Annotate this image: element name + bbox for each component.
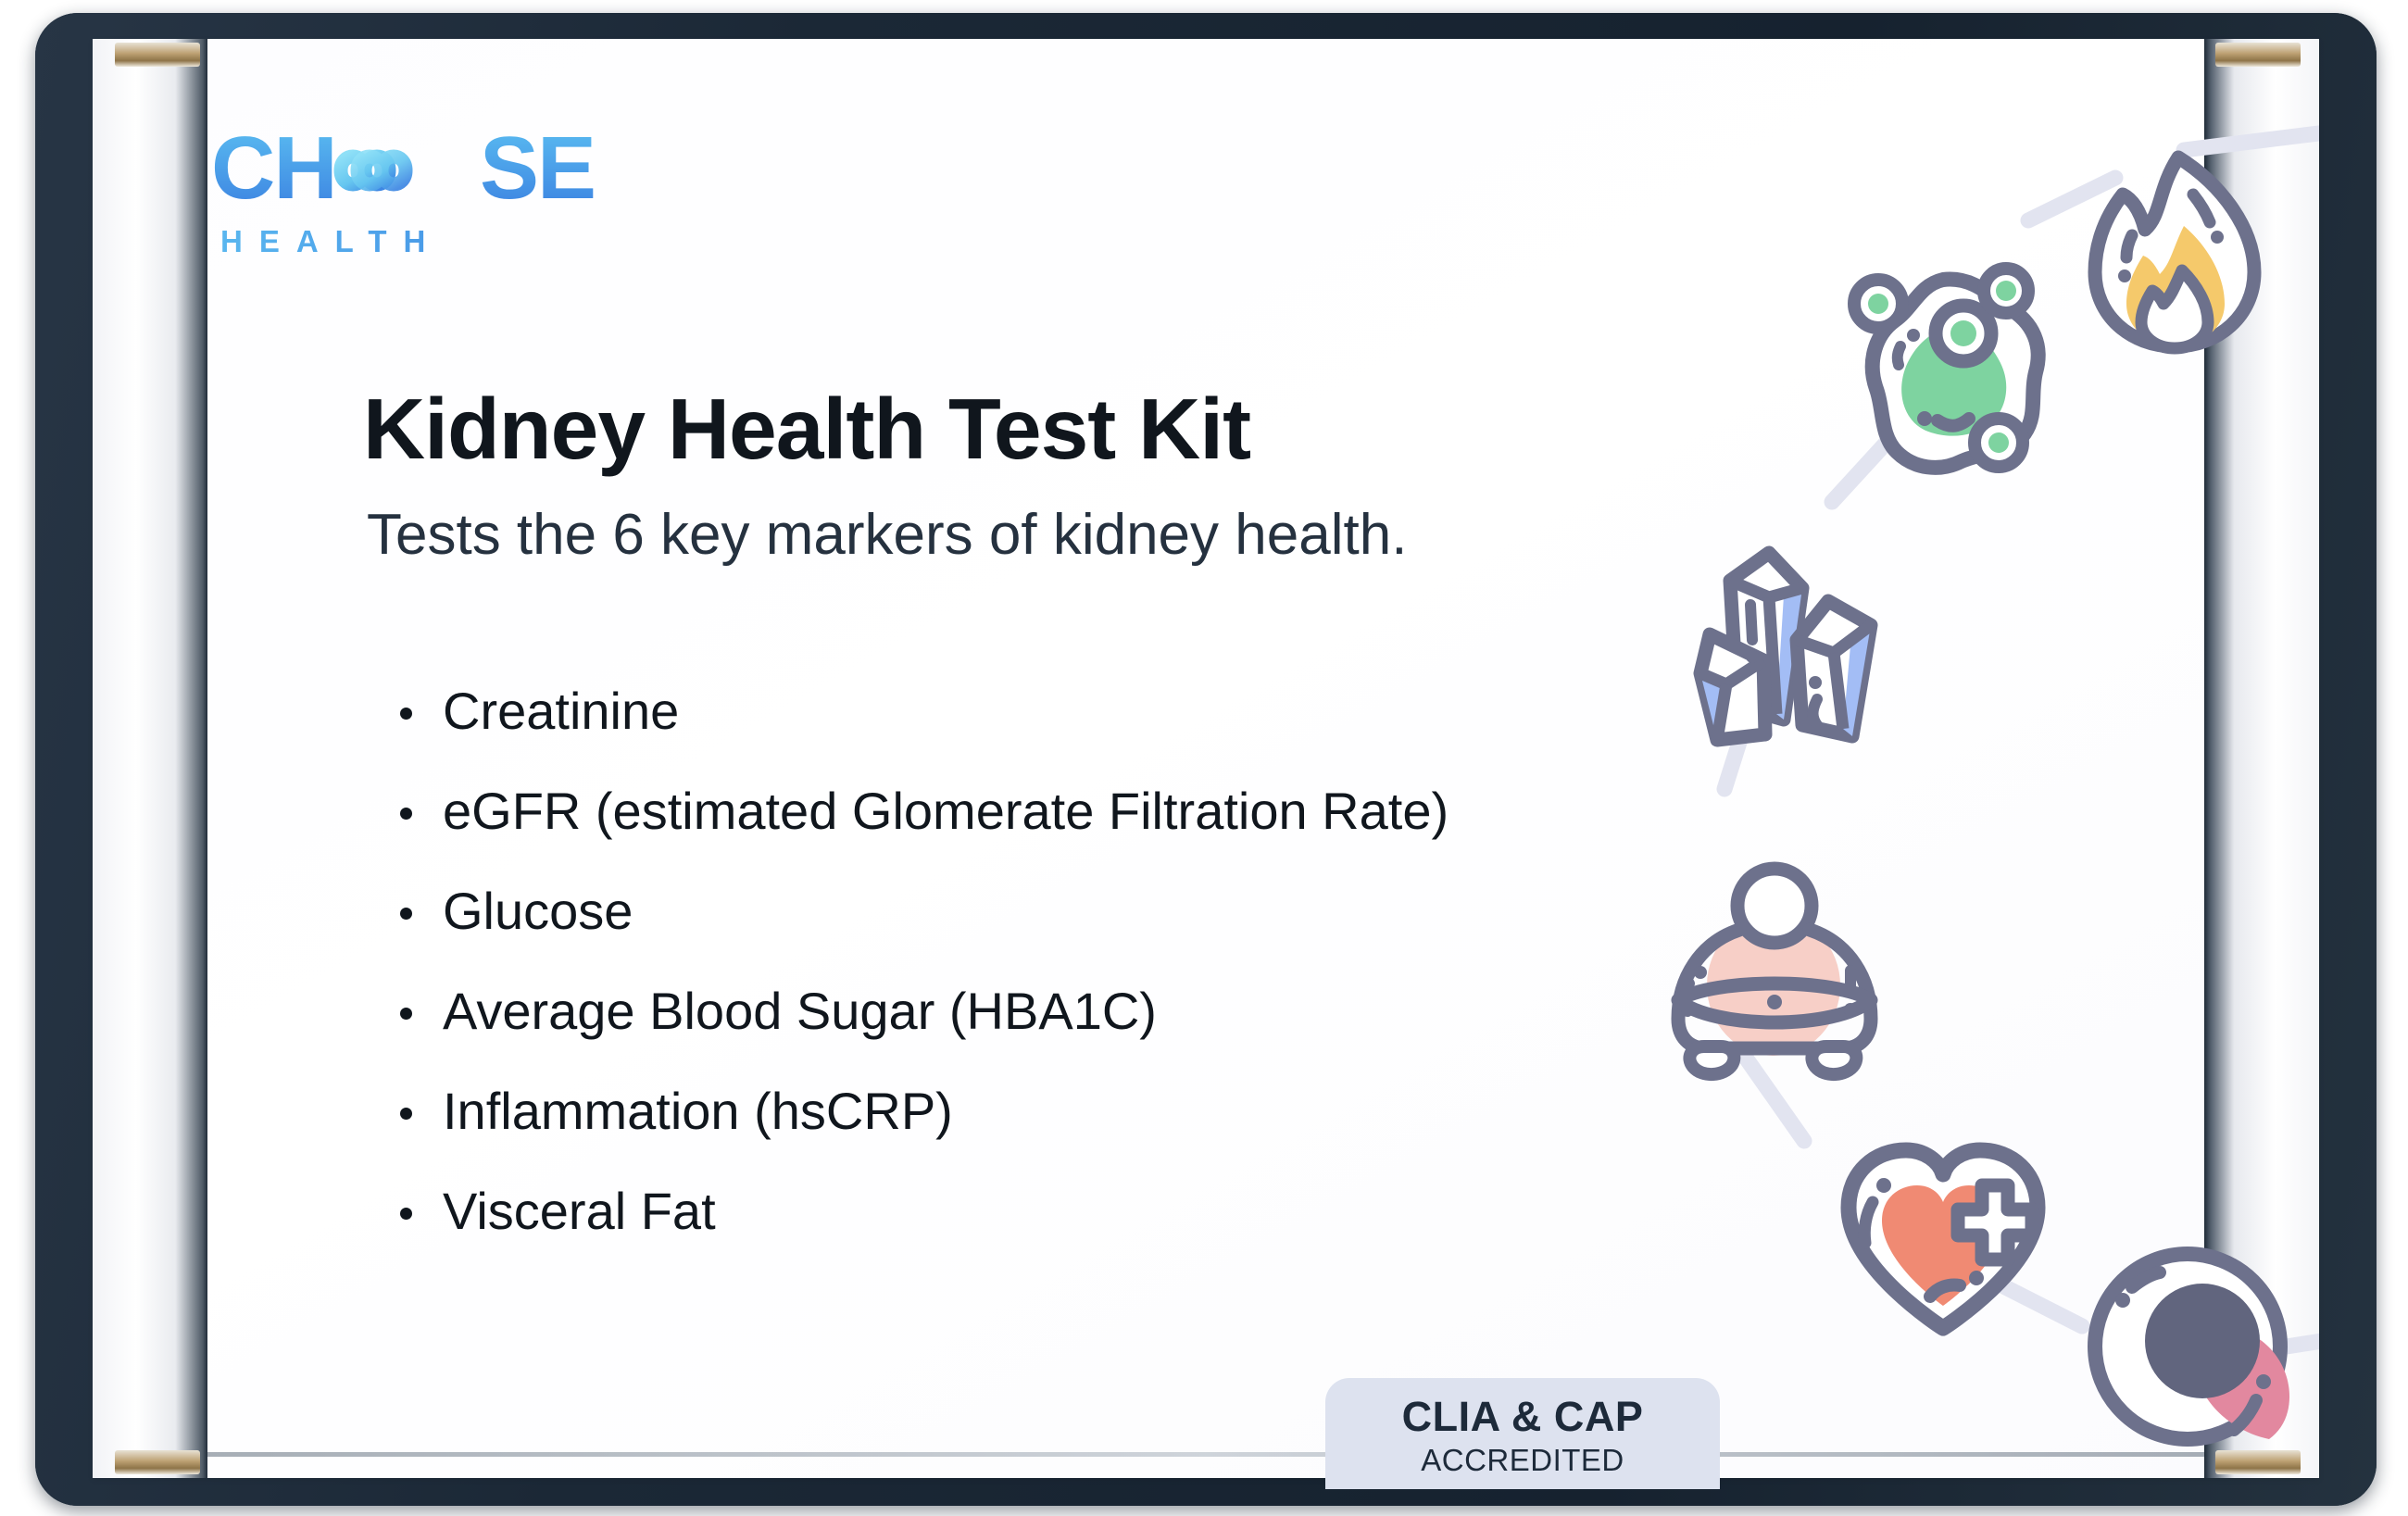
brand-logo: CH SE HEALTH [211,128,646,259]
list-item: Average Blood Sugar (HBA1C) [385,961,1449,1061]
svg-text:CH: CH [211,128,336,213]
brand-logo-tagline: HEALTH [220,224,646,259]
medical-plus-icon [1958,1185,2032,1259]
flame-icon [2095,157,2254,348]
list-item: eGFR (estimated Glomerate Filtration Rat… [385,761,1449,861]
brand-logo-wordmark: CH SE [211,128,646,213]
svg-text:SE: SE [480,128,595,213]
badge-subtitle: ACCREDITED [1325,1443,1720,1478]
body-belly-icon [1678,869,1871,1074]
clia-cap-accreditation-badge: CLIA & CAP ACCREDITED [1325,1378,1720,1489]
cell-cluster-icon [1854,269,2038,468]
badge-title: CLIA & CAP [1325,1378,1720,1441]
product-subtitle: Tests the 6 key markers of kidney health… [367,502,1407,568]
heart-plus-icon [1849,1150,2038,1328]
list-item: Glucose [385,861,1449,961]
connector-dashed-path [1724,132,2319,1352]
list-item: Inflammation (hsCRP) [385,1061,1449,1161]
list-item: Creatinine [385,661,1449,761]
box-artwork-content: CH SE HEALTH Kidney Health Test Kit Test… [93,39,2319,1478]
list-item: Visceral Fat [385,1161,1449,1261]
crystals-icon [1700,553,1871,740]
product-title: Kidney Health Test Kit [363,380,1250,479]
infinity-icon [341,157,406,184]
blood-cell-icon [2095,1254,2289,1439]
marker-list: Creatinine eGFR (estimated Glomerate Fil… [385,661,1449,1261]
